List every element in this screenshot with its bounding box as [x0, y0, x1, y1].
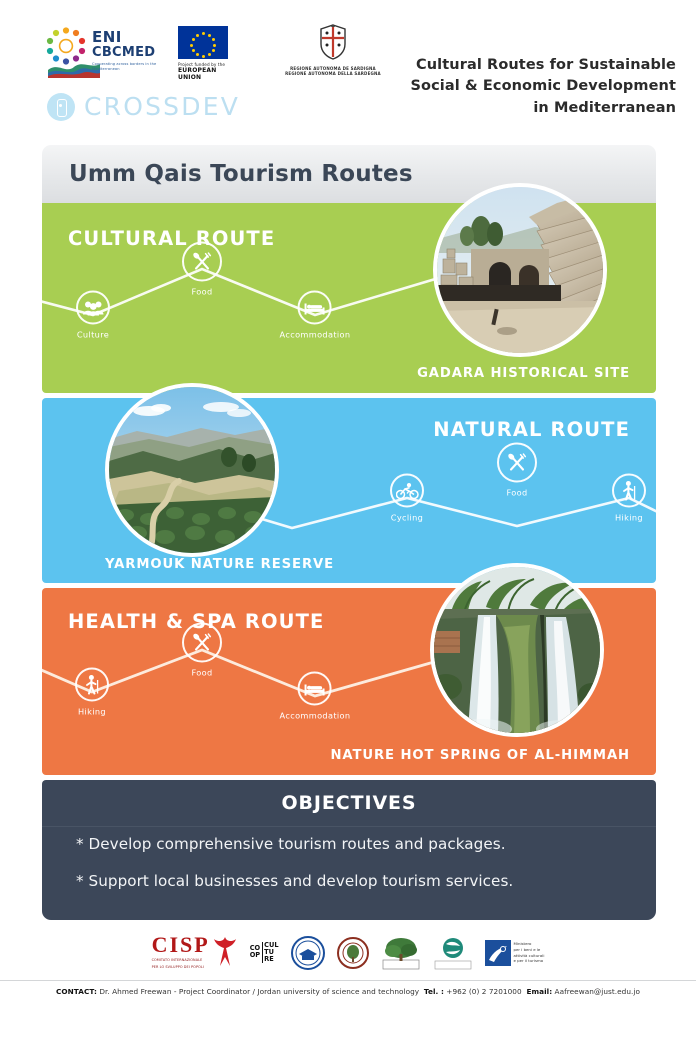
contact-line: CONTACT: Dr. Ahmed Freewan - Project Coo…	[56, 987, 640, 996]
cisp-wordmark: CISP	[152, 935, 210, 956]
poster-header: ENI CBCMED Cooperating across borders in…	[0, 0, 696, 140]
ministero-beni-culturali-logo: Ministero per i beni e le attività cultu…	[485, 940, 545, 966]
routes-card: Umm Qais Tourism Routes CULTURAL ROUTE C…	[42, 145, 656, 920]
contact-person: Dr. Ahmed Freewan - Project Coordinator …	[99, 987, 419, 996]
eni-cbcmed-logo: ENI CBCMED Cooperating across borders in…	[46, 26, 161, 78]
photo-caption-yarmouk: YARMOUK NATURE RESERVE	[105, 557, 334, 572]
gadara-historical-site-photo	[433, 183, 607, 357]
coop-line2: OP	[250, 952, 260, 959]
objective-item: * Support local businesses and develop t…	[76, 871, 622, 892]
objective-item: * Develop comprehensive tourism routes a…	[76, 834, 622, 855]
ministero-emblem-icon	[485, 940, 511, 966]
ministero-line2: per i beni e le	[514, 947, 545, 953]
route-node-label: Food	[182, 287, 222, 297]
cutlery-icon	[182, 242, 222, 282]
crossdev-mark-icon	[47, 93, 75, 121]
route-node-hiking[interactable]: Hiking	[75, 668, 109, 717]
route-node-label: Culture	[76, 330, 110, 340]
contact-tel-label: Tel. :	[424, 987, 444, 996]
hiking-icon	[612, 474, 646, 508]
globe-hands-logo	[433, 936, 473, 970]
objectives-title: OBJECTIVES	[281, 792, 416, 814]
eni-logo-line1: ENI	[92, 30, 161, 45]
bed-icon	[298, 291, 332, 325]
route-node-label: Accommodation	[280, 711, 351, 721]
cisp-subtitle-line2: PER LO SVILUPPO DEI POPOLI	[152, 965, 210, 970]
al-himmah-hot-spring-photo	[430, 563, 604, 737]
royal-society-seal-logo	[337, 937, 369, 969]
eni-logo-line2: CBCMED	[92, 46, 161, 59]
contact-label: CONTACT:	[56, 987, 97, 996]
route-node-accommodation[interactable]: Accommodation	[280, 672, 351, 721]
route-label-natural: NATURAL ROUTE	[433, 418, 630, 441]
contact-bar: CONTACT: Dr. Ahmed Freewan - Project Coo…	[0, 980, 696, 1039]
eu-flag-icon	[178, 26, 228, 59]
partner-logos-row: CISP COMITATO INTERNAZIONALE PER LO SVIL…	[0, 925, 696, 980]
cisp-figure-icon	[212, 935, 238, 967]
bed-icon	[298, 672, 332, 706]
yarmouk-nature-reserve-photo	[105, 383, 279, 557]
cutlery-icon	[182, 623, 222, 663]
objectives-panel: OBJECTIVES * Develop comprehensive touri…	[42, 780, 656, 920]
eu-caption-bold: EUROPEAN UNION	[178, 67, 236, 81]
route-node-culture[interactable]: Culture	[76, 291, 110, 340]
route-node-label: Food	[497, 488, 537, 498]
eni-logo-tagline: Cooperating across borders in the Medite…	[92, 62, 161, 72]
page-title: Umm Qais Tourism Routes	[69, 161, 413, 187]
ministero-line4: e per il turismo	[514, 958, 545, 964]
header-title-line-1: Cultural Routes for Sustainable	[376, 55, 676, 76]
coopculture-logo: CO OP CUL TU RE	[250, 942, 279, 963]
hiking-icon	[75, 668, 109, 702]
photo-caption-al-himmah: NATURE HOT SPRING OF AL-HIMMAH	[330, 748, 630, 763]
route-node-label: Accommodation	[280, 330, 351, 340]
poster-root: ENI CBCMED Cooperating across borders in…	[0, 0, 696, 1039]
route-node-label: Hiking	[75, 707, 109, 717]
culture-line3: RE	[264, 956, 278, 963]
cutlery-icon	[497, 443, 537, 483]
header-title-line-3: in Mediterranean	[376, 98, 676, 119]
people-icon	[76, 291, 110, 325]
objectives-list: * Develop comprehensive tourism routes a…	[42, 834, 656, 907]
sardegna-shield-icon	[318, 24, 348, 60]
european-union-logo: Project funded by the EUROPEAN UNION	[178, 26, 236, 78]
header-title-line-2: Social & Economic Development	[376, 76, 676, 97]
cisp-logo: CISP COMITATO INTERNAZIONALE PER LO SVIL…	[152, 935, 238, 970]
header-title: Cultural Routes for Sustainable Social &…	[376, 55, 676, 119]
route-node-food[interactable]: Food	[497, 443, 537, 498]
contact-email-label: Email:	[526, 987, 552, 996]
photo-caption-gadara: GADARA HISTORICAL SITE	[417, 366, 630, 381]
olive-tree-logo	[381, 936, 421, 970]
route-node-food[interactable]: Food	[182, 623, 222, 678]
route-node-accommodation[interactable]: Accommodation	[280, 291, 351, 340]
crossdev-wordmark: CROSSDEV	[84, 92, 240, 121]
contact-tel: +962 (0) 2 7201000	[446, 987, 521, 996]
contact-email: Aafreewan@just.edu.jo	[555, 987, 640, 996]
crossdev-logo: CROSSDEV	[47, 92, 240, 121]
route-node-food[interactable]: Food	[182, 242, 222, 297]
route-node-cycling[interactable]: Cycling	[390, 474, 424, 523]
university-seal-logo	[291, 936, 325, 970]
route-node-label: Hiking	[612, 513, 646, 523]
objectives-header: OBJECTIVES	[42, 780, 656, 827]
cisp-subtitle-line1: COMITATO INTERNAZIONALE	[152, 958, 210, 963]
cycling-icon	[390, 474, 424, 508]
route-node-label: Food	[182, 668, 222, 678]
route-node-hiking[interactable]: Hiking	[612, 474, 646, 523]
route-node-label: Cycling	[390, 513, 424, 523]
route-label-cultural: CULTURAL ROUTE	[68, 227, 275, 250]
